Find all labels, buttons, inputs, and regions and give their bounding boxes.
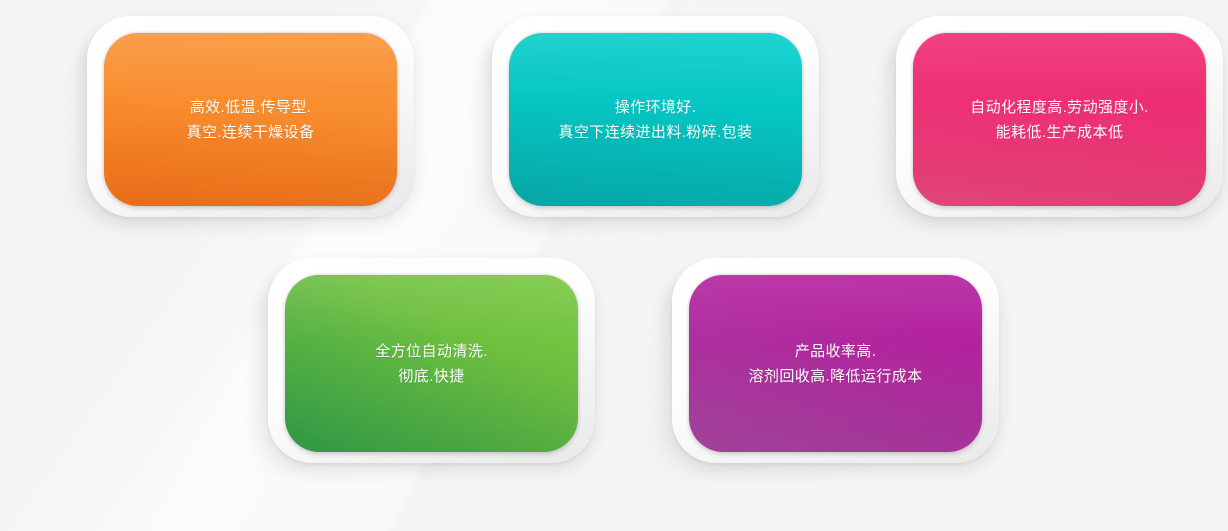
card-label: 自动化程度高.劳动强度小. 能耗低.生产成本低 <box>970 95 1149 145</box>
card-label-line-2: 能耗低.生产成本低 <box>970 120 1149 145</box>
card-label-line-1: 操作环境好. <box>559 95 753 120</box>
card-label: 产品收率高. 溶剂回收高.降低运行成本 <box>749 339 923 389</box>
card-label-line-1: 自动化程度高.劳动强度小. <box>970 95 1149 120</box>
card-color-panel: 全方位自动清洗. 彻底.快捷 <box>285 275 578 452</box>
feature-card-drying-equipment[interactable]: 高效.低温.传导型. 真空.连续干燥设备 <box>87 16 414 217</box>
card-color-panel: 自动化程度高.劳动强度小. 能耗低.生产成本低 <box>913 33 1206 206</box>
card-label-line-2: 真空.连续干燥设备 <box>187 120 315 145</box>
card-label-line-2: 溶剂回收高.降低运行成本 <box>749 364 923 389</box>
card-label-line-1: 高效.低温.传导型. <box>187 95 315 120</box>
card-color-panel: 高效.低温.传导型. 真空.连续干燥设备 <box>104 33 397 206</box>
card-label-line-1: 全方位自动清洗. <box>375 339 487 364</box>
feature-card-yield-recovery[interactable]: 产品收率高. 溶剂回收高.降低运行成本 <box>672 258 999 463</box>
card-color-panel: 产品收率高. 溶剂回收高.降低运行成本 <box>689 275 982 452</box>
feature-card-cleaning[interactable]: 全方位自动清洗. 彻底.快捷 <box>268 258 595 463</box>
feature-cards-canvas: 高效.低温.传导型. 真空.连续干燥设备 操作环境好. 真空下连续进出料.粉碎.… <box>0 0 1228 531</box>
card-label: 高效.低温.传导型. 真空.连续干燥设备 <box>187 95 315 145</box>
feature-card-operating-environment[interactable]: 操作环境好. 真空下连续进出料.粉碎.包装 <box>492 16 819 217</box>
card-label-line-2: 真空下连续进出料.粉碎.包装 <box>559 120 753 145</box>
card-label: 全方位自动清洗. 彻底.快捷 <box>375 339 487 389</box>
card-label-line-1: 产品收率高. <box>749 339 923 364</box>
card-color-panel: 操作环境好. 真空下连续进出料.粉碎.包装 <box>509 33 802 206</box>
feature-card-automation[interactable]: 自动化程度高.劳动强度小. 能耗低.生产成本低 <box>896 16 1223 217</box>
card-label-line-2: 彻底.快捷 <box>375 364 487 389</box>
card-label: 操作环境好. 真空下连续进出料.粉碎.包装 <box>559 95 753 145</box>
